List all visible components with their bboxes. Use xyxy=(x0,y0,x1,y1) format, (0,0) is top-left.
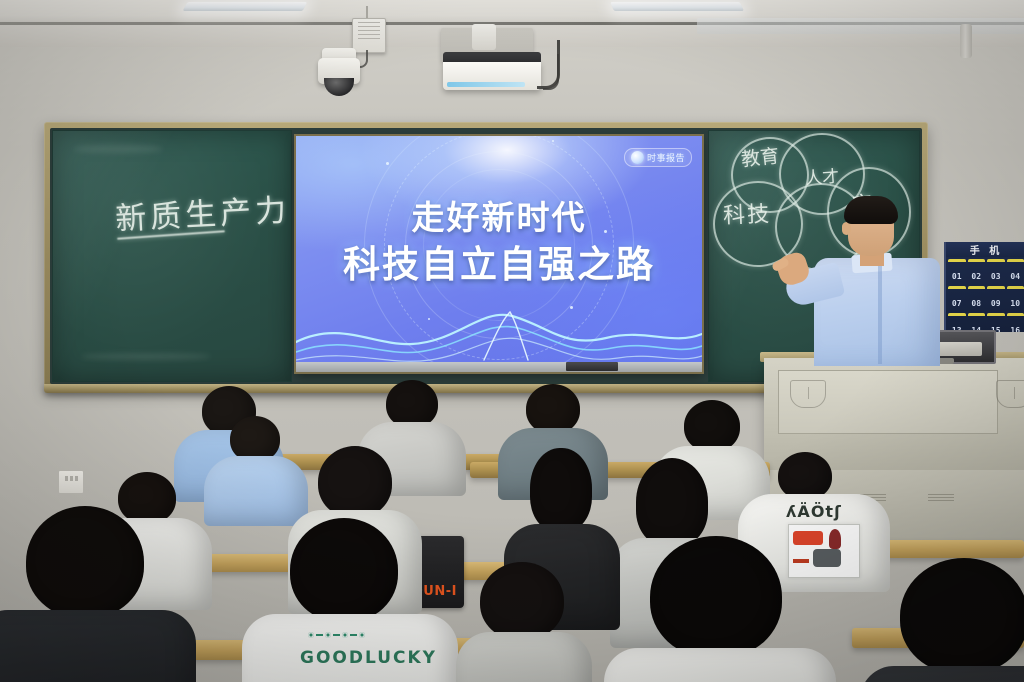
speaker-shirt-placket xyxy=(878,266,882,364)
phone-slot[interactable]: 01 xyxy=(948,259,966,284)
venn-label-technology: 科技 xyxy=(722,196,771,230)
phone-slot[interactable]: 09 xyxy=(987,286,1005,311)
speaker-presenter xyxy=(786,196,946,366)
audience-area: DUN-I ʎÄÖtʃ xyxy=(0,376,1024,682)
phone-slot[interactable]: 08 xyxy=(968,286,986,311)
phone-slot[interactable]: 07 xyxy=(948,286,966,311)
board-gloss xyxy=(53,131,291,381)
phone-slot[interactable]: 04 xyxy=(1007,259,1024,284)
fluorescent-light-icon xyxy=(183,2,308,11)
fluorescent-light-fixture xyxy=(697,18,1024,34)
speaker-ear xyxy=(842,222,851,235)
classroom-scene: 新质生产力 教育 人才 科技 产 xyxy=(0,0,1024,682)
fluorescent-light-icon xyxy=(610,2,744,11)
tshirt-back-text: ʎÄÖtʃ xyxy=(786,502,842,521)
speaker-hair xyxy=(844,196,898,224)
slide-title: 走好新时代 科技自立自强之路 xyxy=(296,198,702,287)
blackboard-left-text: 新质生产力 xyxy=(114,184,291,238)
tshirt-dot-chain-icon xyxy=(308,632,365,638)
slide-background: 时事报告 走好新时代 科技自立自强之路 xyxy=(296,136,702,372)
slide-title-line1: 走好新时代 xyxy=(296,198,702,238)
phone-rack-grid: 010203040708091013141516 xyxy=(946,257,1024,332)
slide-title-line2: 科技自立自强之路 xyxy=(296,242,702,287)
screen-bottom-bar xyxy=(296,362,702,372)
wall-pipe xyxy=(960,24,972,58)
projection-screen: 时事报告 走好新时代 科技自立自强之路 xyxy=(296,136,702,372)
phone-slot[interactable]: 16 xyxy=(1007,313,1024,332)
phone-storage-rack[interactable]: 手 机 010203040708091013141516 xyxy=(944,242,1024,332)
phone-slot[interactable]: 03 xyxy=(987,259,1005,284)
blackboard-left: 新质生产力 xyxy=(52,130,292,382)
phone-rack-header: 手 机 xyxy=(946,242,1024,257)
slide-wave-graphic xyxy=(296,286,702,372)
phone-slot[interactable]: 02 xyxy=(968,259,986,284)
logo-mark-icon xyxy=(631,151,644,164)
slide-logo: 时事报告 xyxy=(624,148,692,167)
venn-label-education: 教育 xyxy=(740,141,781,172)
chalk-smudge xyxy=(81,353,211,360)
tshirt-graphic-print xyxy=(788,524,860,578)
screen-control-box xyxy=(566,362,618,371)
projector-mount xyxy=(472,24,496,50)
projector-cable xyxy=(543,54,559,90)
chalk-smudge xyxy=(73,145,163,153)
phone-slot[interactable]: 10 xyxy=(1007,286,1024,311)
camera-junction-box xyxy=(352,18,386,53)
slide-logo-text: 时事报告 xyxy=(647,151,685,164)
tshirt-graphic-text: GOODLUCKY xyxy=(300,648,437,668)
projector-light-strip xyxy=(447,82,525,87)
venn-label-talent: 人才 xyxy=(804,162,840,189)
